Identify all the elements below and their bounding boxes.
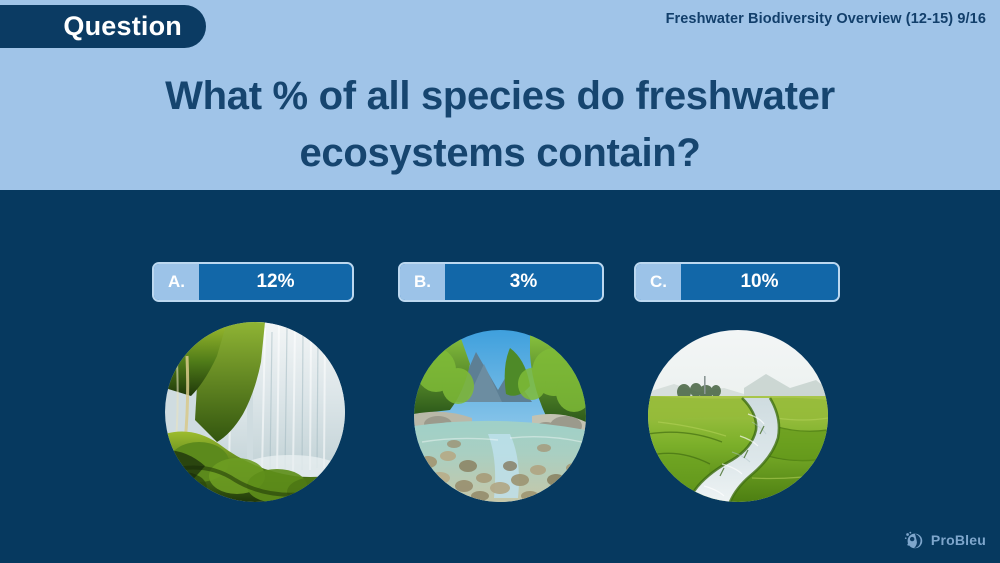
answer-option-a[interactable]: A. 12% (152, 262, 354, 302)
clear-mountain-river-pebbles-photo (414, 330, 586, 502)
answer-letter-b: B. (400, 264, 445, 300)
answer-image-b (414, 330, 586, 502)
answer-options: A. 12% B. 3% C. 10% (0, 262, 1000, 302)
answer-image-c (648, 330, 828, 502)
answer-value-c: 10% (681, 264, 838, 300)
answer-option-c[interactable]: C. 10% (634, 262, 840, 302)
answer-option-b[interactable]: B. 3% (398, 262, 604, 302)
deck-title: Freshwater Biodiversity Overview (12-15)… (666, 11, 986, 27)
question-text: What % of all species do freshwater ecos… (60, 68, 940, 182)
question-badge-label: Question (63, 11, 182, 42)
waterfall-mossy-rocks-photo (165, 322, 345, 502)
header-band: Question Freshwater Biodiversity Overvie… (0, 0, 1000, 190)
answer-value-b: 3% (445, 264, 602, 300)
probleu-logo: ProBleu (903, 529, 986, 551)
probleu-logo-text: ProBleu (931, 532, 986, 548)
globe-swirl-icon (903, 529, 925, 551)
answer-image-a (165, 322, 345, 502)
answer-letter-c: C. (636, 264, 681, 300)
answer-letter-a: A. (154, 264, 199, 300)
quiz-slide: Question Freshwater Biodiversity Overvie… (0, 0, 1000, 563)
answer-value-a: 12% (199, 264, 352, 300)
question-badge: Question (0, 5, 206, 48)
winding-river-green-fields-photo (648, 330, 828, 502)
